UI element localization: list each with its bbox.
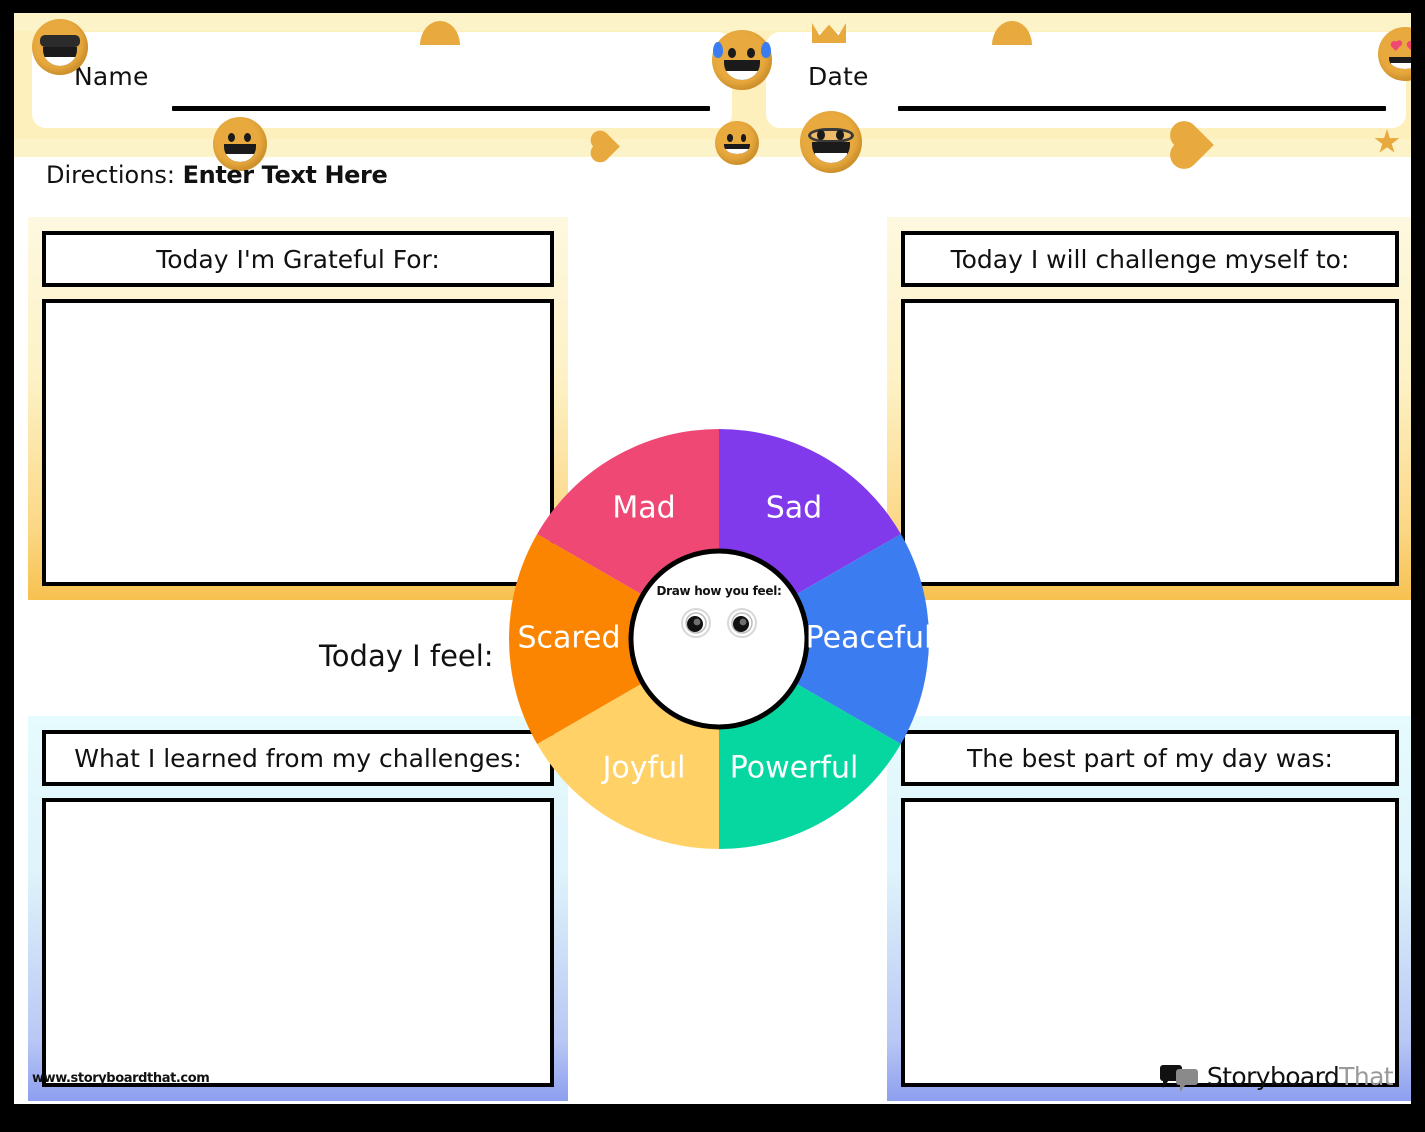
wheel-label-powerful: Powerful xyxy=(730,750,859,785)
feelings-wheel[interactable]: Draw how you feel: SadPeacefulPowerfulJo… xyxy=(509,429,929,849)
date-field-card[interactable]: Date xyxy=(766,32,1406,128)
panel-learned-body[interactable] xyxy=(42,798,554,1087)
directions-value[interactable]: Enter Text Here xyxy=(183,161,388,189)
panel-grateful-body[interactable] xyxy=(42,299,554,586)
draw-face-circle[interactable] xyxy=(631,551,807,727)
name-field-card[interactable]: Name xyxy=(32,32,732,128)
storyboardthat-logo-text: StoryboardThat xyxy=(1207,1062,1393,1091)
wheel-label-mad: Mad xyxy=(612,491,675,526)
googly-eye-left xyxy=(682,609,710,637)
panel-learned-title: What I learned from my challenges: xyxy=(42,730,554,786)
site-url-watermark: www.storyboardthat.com xyxy=(32,1071,209,1086)
directions-label: Directions: xyxy=(46,161,175,189)
panel-grateful: Today I'm Grateful For: xyxy=(28,217,568,600)
logo-primary: Storyboard xyxy=(1207,1062,1339,1091)
worksheet-canvas: Name Date xyxy=(14,13,1411,1104)
panel-challenge-body[interactable] xyxy=(901,299,1399,586)
panel-best-part-title: The best part of my day was: xyxy=(901,730,1399,786)
logo-secondary: That xyxy=(1339,1062,1393,1091)
speech-bubbles-icon xyxy=(1160,1063,1200,1089)
googly-eye-right xyxy=(728,609,756,637)
panel-challenge-title: Today I will challenge myself to: xyxy=(901,231,1399,287)
panel-challenge: Today I will challenge myself to: xyxy=(887,217,1411,600)
directions-line: Directions: Enter Text Here xyxy=(46,161,387,189)
wheel-label-joyful: Joyful xyxy=(601,750,686,785)
panel-learned: What I learned from my challenges: xyxy=(28,716,568,1101)
panel-grateful-title: Today I'm Grateful For: xyxy=(42,231,554,287)
panel-best-part: The best part of my day was: xyxy=(887,716,1411,1101)
storyboardthat-logo: StoryboardThat xyxy=(1160,1059,1393,1093)
panel-best-part-body[interactable] xyxy=(901,798,1399,1087)
wheel-label-sad: Sad xyxy=(766,491,822,526)
wheel-label-peaceful: Peaceful xyxy=(806,621,929,656)
today-i-feel-label: Today I feel: xyxy=(319,639,494,673)
name-write-line[interactable] xyxy=(172,106,710,111)
worksheet-page: Name Date xyxy=(0,0,1425,1132)
draw-how-you-feel-text: Draw how you feel: xyxy=(656,584,781,598)
wheel-label-scared: Scared xyxy=(517,621,620,656)
date-write-line[interactable] xyxy=(898,106,1386,111)
header-band: Name Date xyxy=(14,13,1411,157)
name-label: Name xyxy=(74,62,149,91)
feelings-wheel-svg[interactable]: Draw how you feel: SadPeacefulPowerfulJo… xyxy=(509,429,929,849)
date-label: Date xyxy=(808,62,869,91)
